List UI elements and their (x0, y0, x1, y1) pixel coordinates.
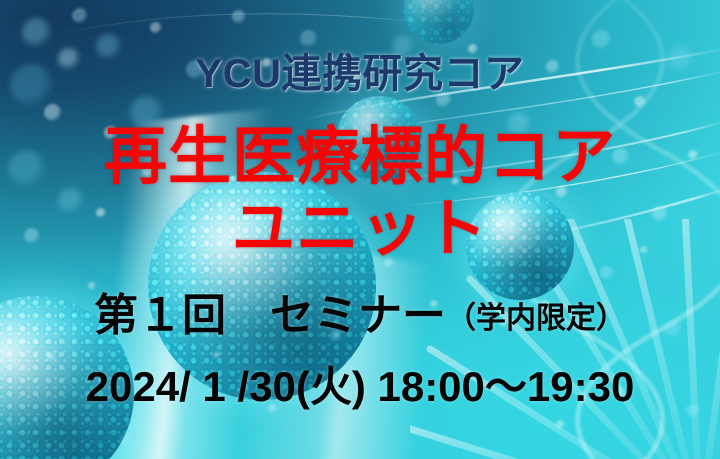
seminar-poster: YCU連携研究コア 再生医療標的コア ユニット 第１回 セミナー（学内限定） 2… (0, 0, 720, 459)
poster-seminar-line: 第１回 セミナー（学内限定） (0, 294, 720, 338)
poster-title-line1: 再生医療標的コア (0, 126, 720, 189)
seminar-note-label: （学内限定） (446, 302, 626, 335)
poster-datetime: 2024/ 1 /30(火) 18:00〜19:30 (0, 366, 720, 408)
seminar-main-label: 第１回 セミナー (94, 291, 446, 340)
poster-title-line2: ユニット (0, 198, 720, 261)
poster-kicker: YCU連携研究コア (0, 54, 720, 94)
